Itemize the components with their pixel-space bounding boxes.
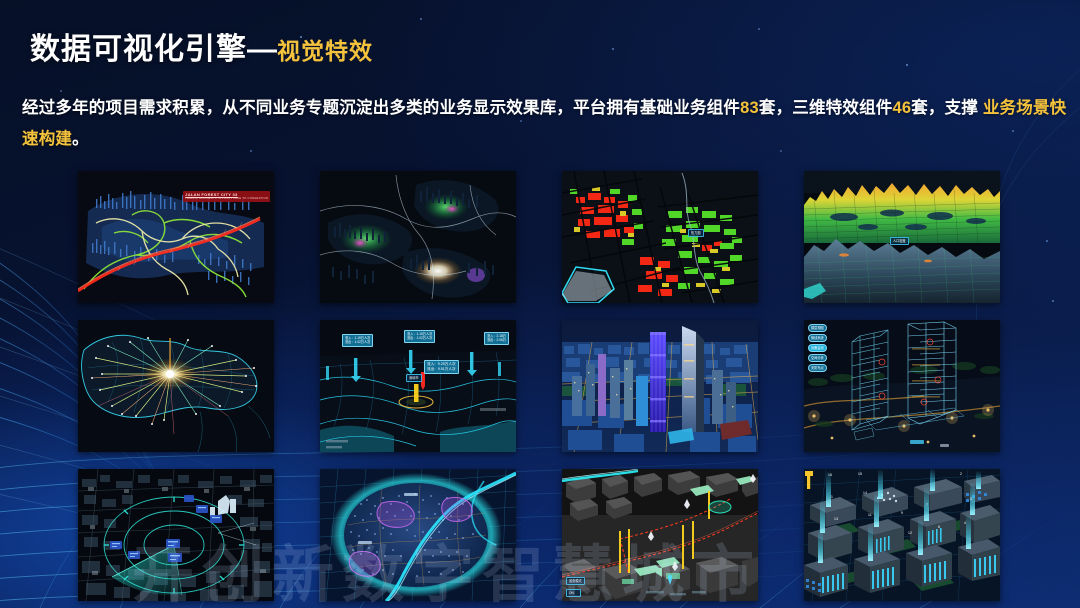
component-count-3d: 46 [892,99,911,117]
body-segment-2: 套，三维特效组件 [759,99,893,117]
thumb-campus-marker-14: 14 [863,491,867,495]
page-title: 数据可视化引擎—视觉特效 [30,24,373,68]
thumb-city-towers[interactable] [562,320,758,452]
thumb-heat-cluster[interactable] [320,171,516,303]
thumb-campus-marker-17: 1 [831,495,833,499]
thumb-campus-marker-12: 12 [908,531,912,535]
body-segment-3: 套，支撑 [911,99,983,117]
body-segment-1: 经过多年的项目需求积累，从不同业务专题沉淀出多类的业务显示效果库，平台拥有基础业… [22,99,740,117]
caption-subtitle: TRAFFIC ACCIDENTS IN FRONT LANE TO CONGE… [185,197,268,201]
thumb-od-callout-1: 流入：1.19万人次 流出：1.02万人次 [342,334,373,347]
thumb-campus-marker-2: 2 [960,472,962,476]
thumb-bim-menu-item-5[interactable]: 安防布点 [808,364,827,372]
body-paragraph: 经过多年的项目需求积累，从不同业务专题沉淀出多类的业务显示效果库，平台拥有基础业… [22,93,1068,155]
thumb-bim-wireframe[interactable]: 楼层视图 管线系统 设备监测 空间分析 安防布点 [804,320,1000,452]
thumb-terrain-mesh[interactable]: 人口密度 [804,171,1000,303]
thumb-bim-menu-item-3[interactable]: 设备监测 [808,344,827,352]
thumb-radar-sweep[interactable] [78,469,274,601]
thumb-terrain-mesh-badge: 人口密度 [890,237,909,245]
thumb-bim-menu-item-1[interactable]: 楼层视图 [808,324,827,332]
thumb-od-callout-2: 流入：1.15万人次 流出：1.02万人次 [404,330,435,343]
thumb-od-callouts[interactable]: 流入：1.19万人次 流出：1.02万人次 流入：1.15万人次 流出：1.02… [320,320,516,452]
thumb-block-heatmap[interactable]: 热力图 [562,171,758,303]
thumb-block-heatmap-badge: 热力图 [688,229,704,237]
thumb-campus-beams[interactable]: 16 15 2 14 1 3 13 11 9 7 4 12 8 [804,469,1000,601]
page-title-main: 数据可视化引擎 [30,33,247,66]
body-segment-4: 。 [72,130,89,148]
toggle-label: 巡查模式 [569,579,582,583]
thumb-campus-marker-16: 16 [828,473,832,477]
thumb-route-overlay[interactable]: 巡查模式 ON [562,469,758,601]
thumb-glow-city-disc[interactable] [320,469,516,601]
thumb-route-toggle[interactable]: 巡查模式 [566,577,585,585]
thumb-flow-burst[interactable] [78,320,274,452]
thumb-campus-marker-15: 15 [858,472,862,476]
callout-line-1: 流入：9.25万人次 [427,362,456,366]
thumb-od-callout-3: 流入：9.25万人次 流出：9.51万人次 [424,360,459,374]
toggle-state-label: ON [569,591,574,595]
thumb-campus-marker-9: 9 [901,511,903,515]
thumb-campus-marker-7: 7 [926,503,928,507]
effects-gallery-grid: JALAN FOREST CITY 33 TRAFFIC ACCIDENTS I… [78,171,1002,601]
thumb-od-callout-4: 流入：2.18万 流出：2.06万 [484,332,509,345]
thumb-road-network[interactable]: JALAN FOREST CITY 33 TRAFFIC ACCIDENTS I… [78,171,274,303]
callout-line-2: 流出：9.51万人次 [427,367,456,371]
component-count-basic: 83 [740,99,759,117]
thumb-route-toggle-state[interactable]: ON [566,589,581,597]
page-title-sub: 视觉特效 [277,38,373,64]
thumb-campus-marker-13: 13 [834,517,838,521]
page-title-dash: — [247,33,277,66]
thumb-campus-marker-4: 4 [964,521,966,525]
callout-line-2: 流出：1.02万人次 [407,336,432,340]
callout-line-2: 流出：2.06万 [487,338,506,342]
thumb-campus-marker-3: 3 [970,497,972,501]
thumb-campus-marker-11: 11 [868,513,872,517]
thumb-bim-menu-item-2[interactable]: 管线系统 [808,334,827,342]
slide-canvas: 数据可视化引擎—视觉特效 经过多年的项目需求积累，从不同业务专题沉淀出多类的业务… [0,0,1080,608]
thumb-bim-menu-item-4[interactable]: 空间分析 [808,354,827,362]
thumb-campus-marker-8: 8 [938,525,940,529]
callout-line-2: 流出：1.02万人次 [345,340,370,344]
thumb-road-network-caption: JALAN FOREST CITY 33 TRAFFIC ACCIDENTS I… [183,191,270,202]
thumb-od-center-label: 深圳市 [406,374,422,382]
